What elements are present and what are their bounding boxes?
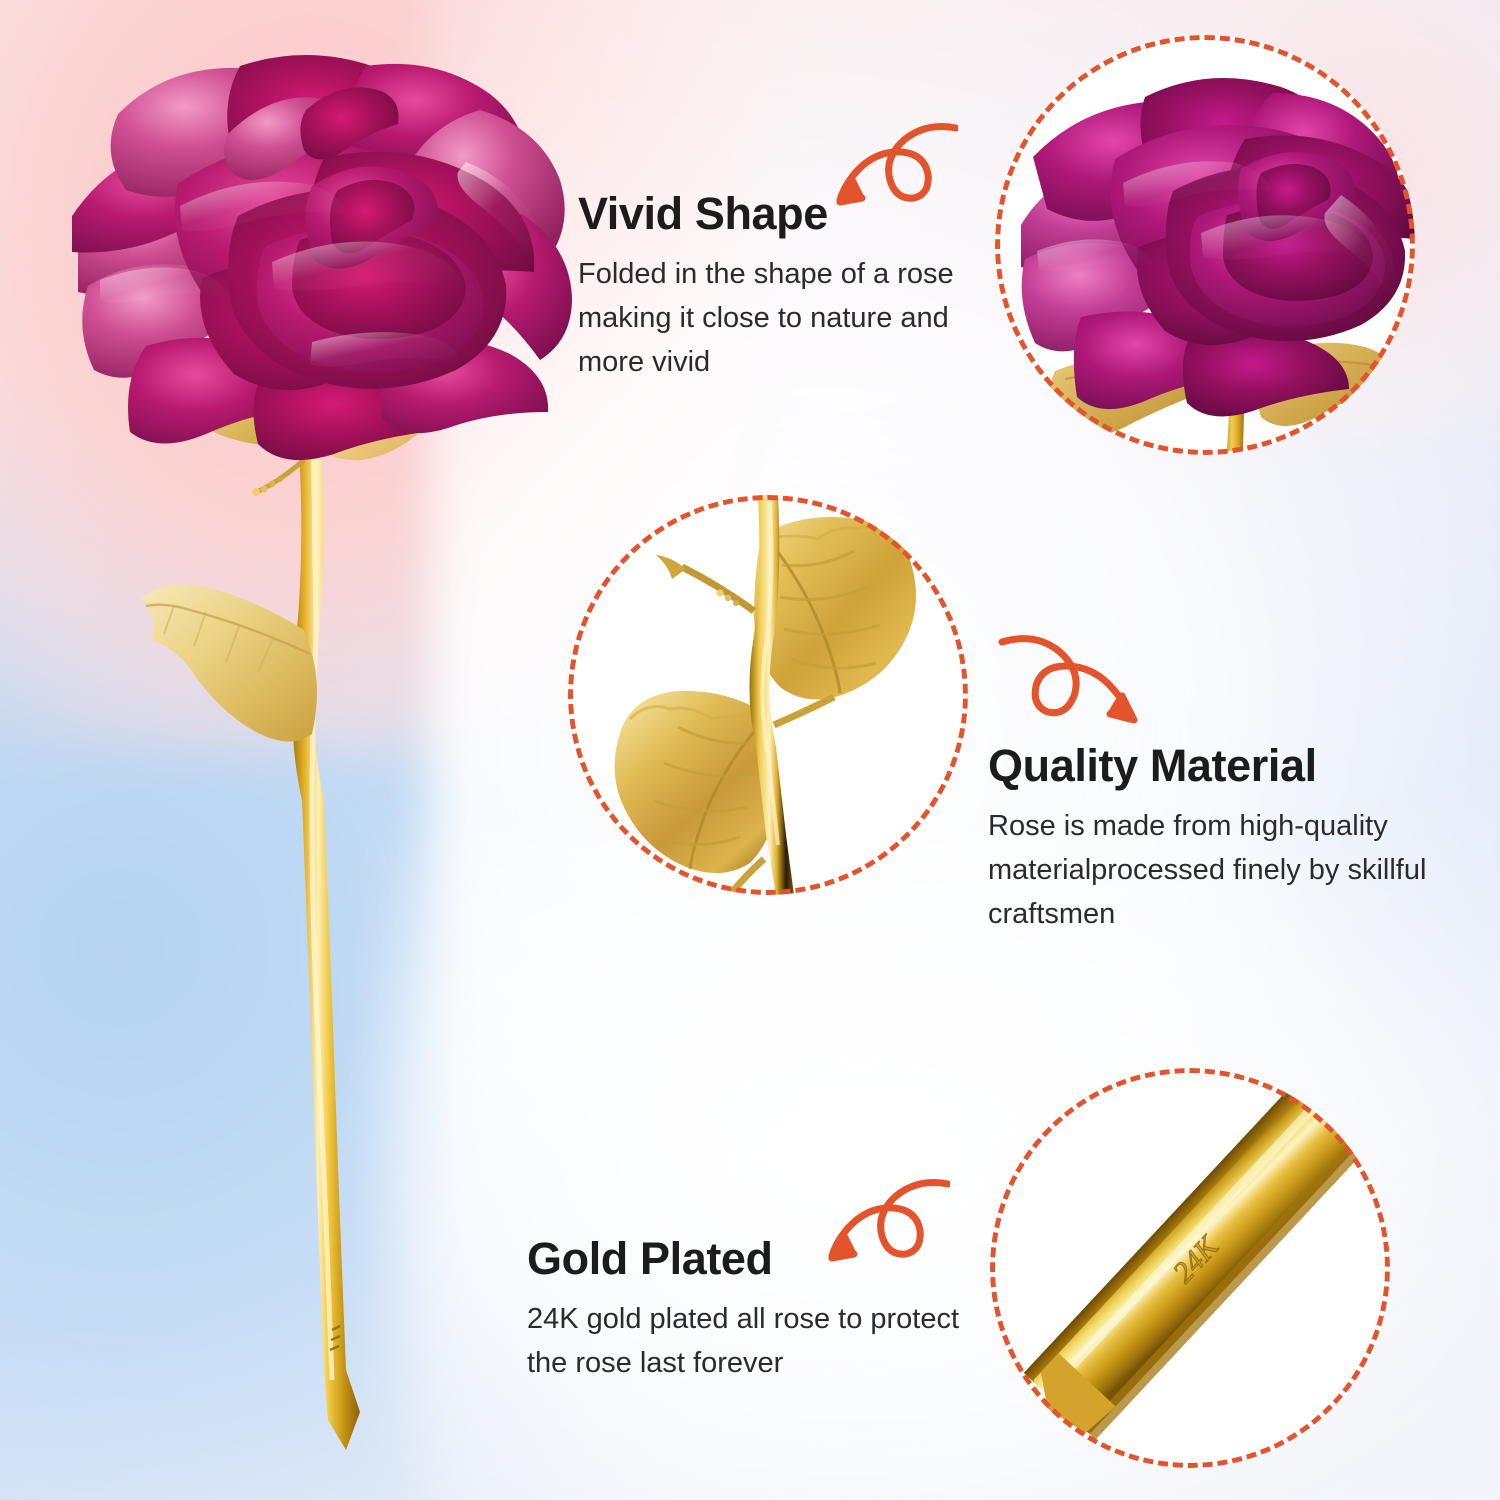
callout-circle-rose-head [995,35,1415,455]
feature-body-gold-plated: 24K gold plated all rose to protect the … [527,1297,1007,1385]
callout-rose-head-image [995,35,1415,455]
product-rose-image [60,40,580,1490]
feature-body-quality-material: Rose is made from high-quality materialp… [988,804,1434,936]
feature-body-vivid-shape: Folded in the shape of a rose making it … [578,252,998,384]
curly-arrow-right-icon-quality [998,618,1158,738]
feature-title-vivid-shape: Vivid Shape [578,188,998,240]
callout-gold-leaves-image [568,495,968,895]
callout-circle-gold-leaves [568,495,968,895]
rose-leaf-lower-left [142,585,317,742]
feature-block-quality-material: Quality Material Rose is made from high-… [988,740,1434,936]
feature-block-gold-plated: Gold Plated 24K gold plated all rose to … [527,1233,1007,1385]
feature-title-quality-material: Quality Material [988,740,1434,792]
feature-block-vivid-shape: Vivid Shape Folded in the shape of a ros… [578,188,998,384]
rose-flower-head [72,55,572,460]
callout-circle-gold-stem: 24K [990,1068,1390,1468]
infographic-canvas: 24K Vivid Shape Folded in the shape of a… [0,0,1500,1500]
feature-title-gold-plated: Gold Plated [527,1233,1007,1285]
callout-gold-stem-image: 24K [990,1068,1390,1468]
